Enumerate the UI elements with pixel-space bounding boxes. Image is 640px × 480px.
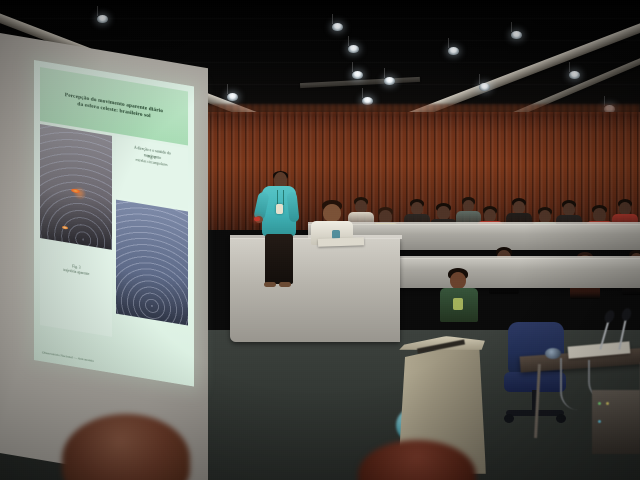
light-rod [348,36,349,46]
child-green-tshirt [438,268,480,328]
light-rod [448,38,449,48]
night-sky-photo [116,200,188,326]
equipment-puck [545,348,561,359]
projection-screen: Percepção do movimento aparente diário d… [34,60,194,386]
light-rod [479,74,480,84]
text-panel-lower-left: Fig. 3 trajetória aparente [40,241,112,337]
legs [265,234,293,284]
light-bulb [352,71,363,79]
audience-desk-upper-edge [308,222,640,225]
light-bulb [348,45,359,53]
light-bulb [227,93,238,101]
status-led [606,402,609,405]
light-bulb [97,15,108,23]
light-rod [569,62,570,72]
light-rod [352,62,353,72]
arm-right [286,192,299,223]
light-bulb [384,77,395,85]
tshirt-print [453,298,463,310]
chair-wheel [556,414,566,423]
light-glow [62,226,68,230]
head [593,208,606,222]
light-rod [227,84,228,94]
caption-lower-left: Fig. 3 trajetória aparente [40,260,112,282]
star-trail-photo [40,124,112,250]
presenter-desk [230,238,400,342]
light-bulb [479,83,490,91]
head [437,206,450,220]
shoe-left [264,282,276,287]
slide-footer: Observatório Nacional — Astronomia [42,350,94,363]
head [323,204,341,222]
microphone-icon [620,307,633,322]
papers-on-desk [318,237,364,247]
light-rod [362,88,363,98]
light-bulb [511,31,522,39]
name-badge [276,204,283,214]
status-led [598,420,601,423]
light-rod [511,22,512,32]
wood-panel-wall-top-edge [196,104,640,116]
microphone-icon [603,309,617,325]
presenter-speaking [258,172,302,290]
light-bulb [569,71,580,79]
head [450,272,466,289]
light-bulb [448,47,459,55]
laser-pointer-icon [254,217,260,221]
chair-seat [504,372,566,392]
auditorium-photograph: Percepção do movimento aparente diário d… [0,0,640,480]
light-rod [97,6,98,16]
chair-wheel [504,414,514,423]
lanyard [277,190,284,205]
light-bulb [332,23,343,31]
light-rod [384,68,385,78]
status-led [598,402,601,405]
shoe-right [279,282,291,287]
presentation-slide: Percepção do movimento aparente diário d… [34,60,194,386]
light-rod [332,14,333,24]
cable-rack [592,390,640,454]
light-glow [71,188,80,193]
cable [560,358,588,410]
